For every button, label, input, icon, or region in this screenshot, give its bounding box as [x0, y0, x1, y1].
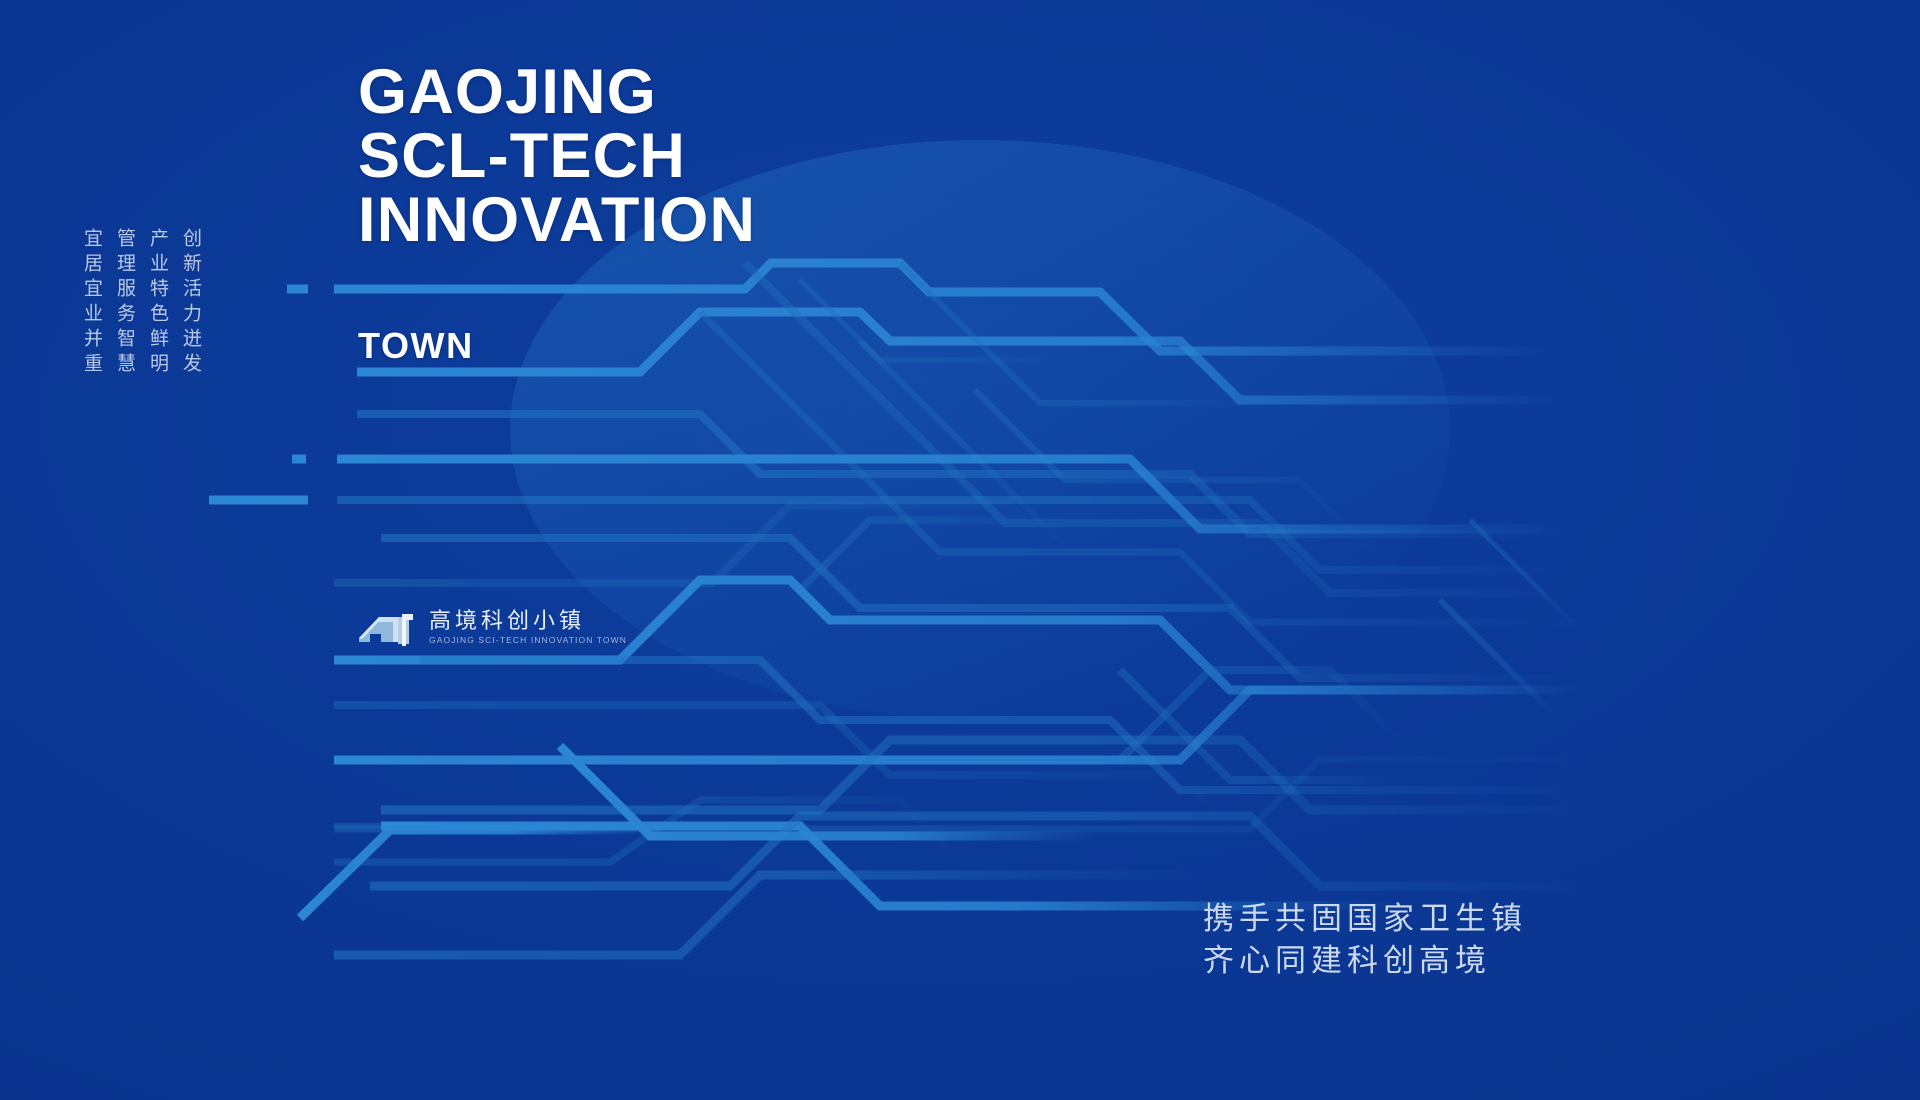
vertical-slogan-column-3: 管理服务智慧	[115, 228, 134, 378]
house-building-icon	[357, 608, 419, 648]
headline-line-2: SCL-TECH	[358, 124, 756, 188]
headline-line-3: INNOVATION	[358, 188, 756, 252]
logo-chinese-name: 高境科创小镇	[429, 610, 627, 634]
vertical-slogan: 创新活力迸发 产业特色鲜明 管理服务智慧 宜居宜业并重	[82, 228, 200, 378]
circuit-line-pattern	[0, 0, 1920, 1100]
bottom-slogan-line-1: 携手共固国家卫生镇	[1203, 898, 1527, 940]
bottom-slogan-line-2: 齐心同建科创高境	[1203, 940, 1527, 982]
vertical-slogan-column-4: 宜居宜业并重	[82, 228, 101, 378]
headline-line-1: GAOJING	[358, 60, 756, 124]
poster-canvas: 创新活力迸发 产业特色鲜明 管理服务智慧 宜居宜业并重 GAOJING SCL-…	[0, 0, 1920, 1100]
logo-text-block: 高境科创小镇 GAOJING SCI-TECH INNOVATION TOWN	[429, 610, 627, 646]
headline: GAOJING SCL-TECH INNOVATION	[358, 60, 756, 252]
bottom-slogan: 携手共固国家卫生镇 齐心同建科创高境	[1203, 898, 1527, 982]
logo-lockup: 高境科创小镇 GAOJING SCI-TECH INNOVATION TOWN	[357, 608, 627, 648]
vertical-slogan-column-1: 创新活力迸发	[181, 228, 200, 378]
headline-sub-word: TOWN	[358, 325, 474, 367]
vertical-slogan-column-2: 产业特色鲜明	[148, 228, 167, 378]
logo-english-name: GAOJING SCI-TECH INNOVATION TOWN	[429, 635, 627, 646]
